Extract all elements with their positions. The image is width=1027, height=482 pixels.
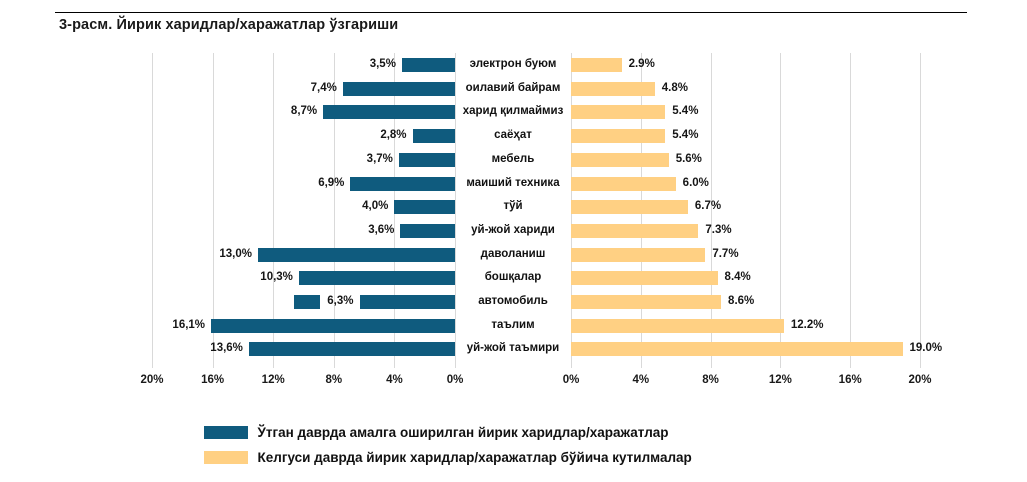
bar-value-label: 5.4% bbox=[672, 127, 698, 144]
legend-item-future: Келгуси даврда йирик харидлар/харажатлар… bbox=[0, 445, 1027, 470]
bar-row: 8.4% bbox=[571, 266, 920, 290]
bar-value-label: 12.2% bbox=[791, 317, 824, 334]
bar-left bbox=[258, 248, 455, 262]
bar-value-label: 3,6% bbox=[368, 222, 394, 239]
bar-row: 6.7% bbox=[571, 195, 920, 219]
bar-row: 6.0% bbox=[571, 172, 920, 196]
bar-value-label: 6.7% bbox=[695, 198, 721, 215]
bar-value-label: 4,0% bbox=[362, 198, 388, 215]
bar-value-label: 8,7% bbox=[291, 103, 317, 120]
bar-right bbox=[571, 319, 784, 333]
axis-tick: 0% bbox=[447, 374, 464, 386]
category-label: тўй bbox=[455, 195, 571, 219]
bar-value-label: 8.4% bbox=[725, 269, 751, 286]
bar-right bbox=[571, 82, 655, 96]
category-label: мебель bbox=[455, 148, 571, 172]
bar-value-label: 19.0% bbox=[910, 340, 943, 357]
category-label: харид қилмаймиз bbox=[455, 100, 571, 124]
bar-value-label: 5.6% bbox=[676, 151, 702, 168]
left-bar-rows: 3,5%7,4%8,7%2,8%3,7%6,9%4,0%3,6%13,0%10,… bbox=[152, 53, 455, 338]
category-label: таълим bbox=[455, 314, 571, 338]
bar-value-label: 7.7% bbox=[712, 246, 738, 263]
category-label: бошқалар bbox=[455, 266, 571, 290]
bar-right bbox=[571, 200, 688, 214]
bar-value-label: 2.9% bbox=[629, 56, 655, 73]
bar-value-label: 4.8% bbox=[662, 80, 688, 97]
gridline bbox=[920, 53, 921, 368]
category-label: электрон буюм bbox=[455, 53, 571, 77]
bar-left bbox=[350, 177, 455, 191]
category-label: уй-жой таъмири bbox=[455, 337, 571, 361]
bar-row: 3,7% bbox=[152, 148, 455, 172]
bar-row: 6,3% bbox=[152, 290, 455, 314]
bar-row: 16,1% bbox=[152, 314, 455, 338]
axis-tick: 16% bbox=[839, 374, 862, 386]
figure-title: 3-расм. Йирик харидлар/харажатлар ўзгари… bbox=[59, 17, 398, 33]
axis-tick: 8% bbox=[325, 374, 342, 386]
bar-value-label: 13,0% bbox=[219, 246, 252, 263]
bar-right bbox=[571, 129, 665, 143]
category-label: саёҳат bbox=[455, 124, 571, 148]
bar-row: 10,3% bbox=[152, 266, 455, 290]
bar-row: 8.6% bbox=[571, 290, 920, 314]
left-plot-area: 3,5%7,4%8,7%2,8%3,7%6,9%4,0%3,6%13,0%10,… bbox=[152, 53, 455, 368]
bar-left bbox=[299, 271, 455, 285]
bar-right bbox=[571, 271, 718, 285]
axis-tick: 4% bbox=[632, 374, 649, 386]
bar-row: 5.6% bbox=[571, 148, 920, 172]
bar-value-label: 10,3% bbox=[260, 269, 293, 286]
legend-label-past: Ўтган даврда амалга оширилган йирик хари… bbox=[258, 425, 669, 440]
bar-right bbox=[571, 224, 698, 238]
chart-legend: Ўтган даврда амалга оширилган йирик хари… bbox=[0, 420, 1027, 470]
left-axis: 20%16%12%8%4%0% bbox=[152, 374, 455, 394]
axis-tick: 0% bbox=[563, 374, 580, 386]
bar-row: 3,6% bbox=[152, 219, 455, 243]
category-label: даволаниш bbox=[455, 243, 571, 267]
axis-tick: 8% bbox=[702, 374, 719, 386]
bar-left bbox=[211, 319, 455, 333]
bar-row: 5.4% bbox=[571, 124, 920, 148]
bar-left bbox=[360, 295, 455, 309]
right-axis: 0%4%8%12%16%20% bbox=[571, 374, 920, 394]
legend-swatch-past bbox=[204, 426, 248, 439]
bar-row: 2,8% bbox=[152, 124, 455, 148]
bar-row: 2.9% bbox=[571, 53, 920, 77]
axis-tick: 4% bbox=[386, 374, 403, 386]
category-label: маиший техника bbox=[455, 172, 571, 196]
category-label: оилавий байрам bbox=[455, 77, 571, 101]
bar-fragment bbox=[294, 295, 320, 309]
bar-row: 13,0% bbox=[152, 243, 455, 267]
bar-row: 19.0% bbox=[571, 337, 920, 361]
right-plot-area: 2.9%4.8%5.4%5.4%5.6%6.0%6.7%7.3%7.7%8.4%… bbox=[571, 53, 920, 368]
bar-row: 6,9% bbox=[152, 172, 455, 196]
legend-label-future: Келгуси даврда йирик харидлар/харажатлар… bbox=[258, 450, 692, 465]
axis-tick: 12% bbox=[262, 374, 285, 386]
bar-value-label: 3,5% bbox=[370, 56, 396, 73]
bar-row: 4.8% bbox=[571, 77, 920, 101]
bar-left bbox=[343, 82, 455, 96]
bar-right bbox=[571, 177, 676, 191]
bar-row: 7.7% bbox=[571, 243, 920, 267]
butterfly-chart: 3,5%7,4%8,7%2,8%3,7%6,9%4,0%3,6%13,0%10,… bbox=[0, 53, 1027, 398]
bar-row: 7.3% bbox=[571, 219, 920, 243]
bar-left bbox=[394, 200, 455, 214]
bar-row: 12.2% bbox=[571, 314, 920, 338]
category-label: автомобиль bbox=[455, 290, 571, 314]
bar-right bbox=[571, 342, 903, 356]
bar-left bbox=[249, 342, 455, 356]
bar-row: 7,4% bbox=[152, 77, 455, 101]
bar-left bbox=[323, 105, 455, 119]
bar-value-label: 7.3% bbox=[705, 222, 731, 239]
bar-row: 8,7% bbox=[152, 100, 455, 124]
bar-left bbox=[400, 224, 455, 238]
axis-tick: 16% bbox=[201, 374, 224, 386]
bar-right bbox=[571, 58, 622, 72]
legend-swatch-future bbox=[204, 451, 248, 464]
bar-value-label: 8.6% bbox=[728, 293, 754, 310]
bar-value-label: 2,8% bbox=[380, 127, 406, 144]
bar-value-label: 3,7% bbox=[367, 151, 393, 168]
legend-item-past: Ўтган даврда амалга оширилган йирик хари… bbox=[0, 420, 1027, 445]
title-divider bbox=[55, 12, 967, 13]
axis-tick: 20% bbox=[908, 374, 931, 386]
axis-tick: 20% bbox=[140, 374, 163, 386]
bar-value-label: 6,9% bbox=[318, 175, 344, 192]
bar-value-label: 5.4% bbox=[672, 103, 698, 120]
bar-row: 3,5% bbox=[152, 53, 455, 77]
bar-right bbox=[571, 153, 669, 167]
category-label: уй-жой хариди bbox=[455, 219, 571, 243]
bar-right bbox=[571, 248, 705, 262]
right-bar-rows: 2.9%4.8%5.4%5.4%5.6%6.0%6.7%7.3%7.7%8.4%… bbox=[571, 53, 920, 338]
bar-left bbox=[399, 153, 455, 167]
bar-right bbox=[571, 295, 721, 309]
bar-row: 13,6% bbox=[152, 337, 455, 361]
bar-value-label: 6,3% bbox=[327, 293, 353, 310]
bar-right bbox=[571, 105, 665, 119]
bar-row: 4,0% bbox=[152, 195, 455, 219]
category-labels: электрон буюмоилавий байрамхарид қилмайм… bbox=[455, 53, 571, 368]
bar-left bbox=[402, 58, 455, 72]
bar-value-label: 7,4% bbox=[311, 80, 337, 97]
bar-value-label: 13,6% bbox=[210, 340, 243, 357]
axis-tick: 12% bbox=[769, 374, 792, 386]
bar-row: 5.4% bbox=[571, 100, 920, 124]
bar-left bbox=[413, 129, 455, 143]
bar-value-label: 6.0% bbox=[683, 175, 709, 192]
bar-value-label: 16,1% bbox=[172, 317, 205, 334]
